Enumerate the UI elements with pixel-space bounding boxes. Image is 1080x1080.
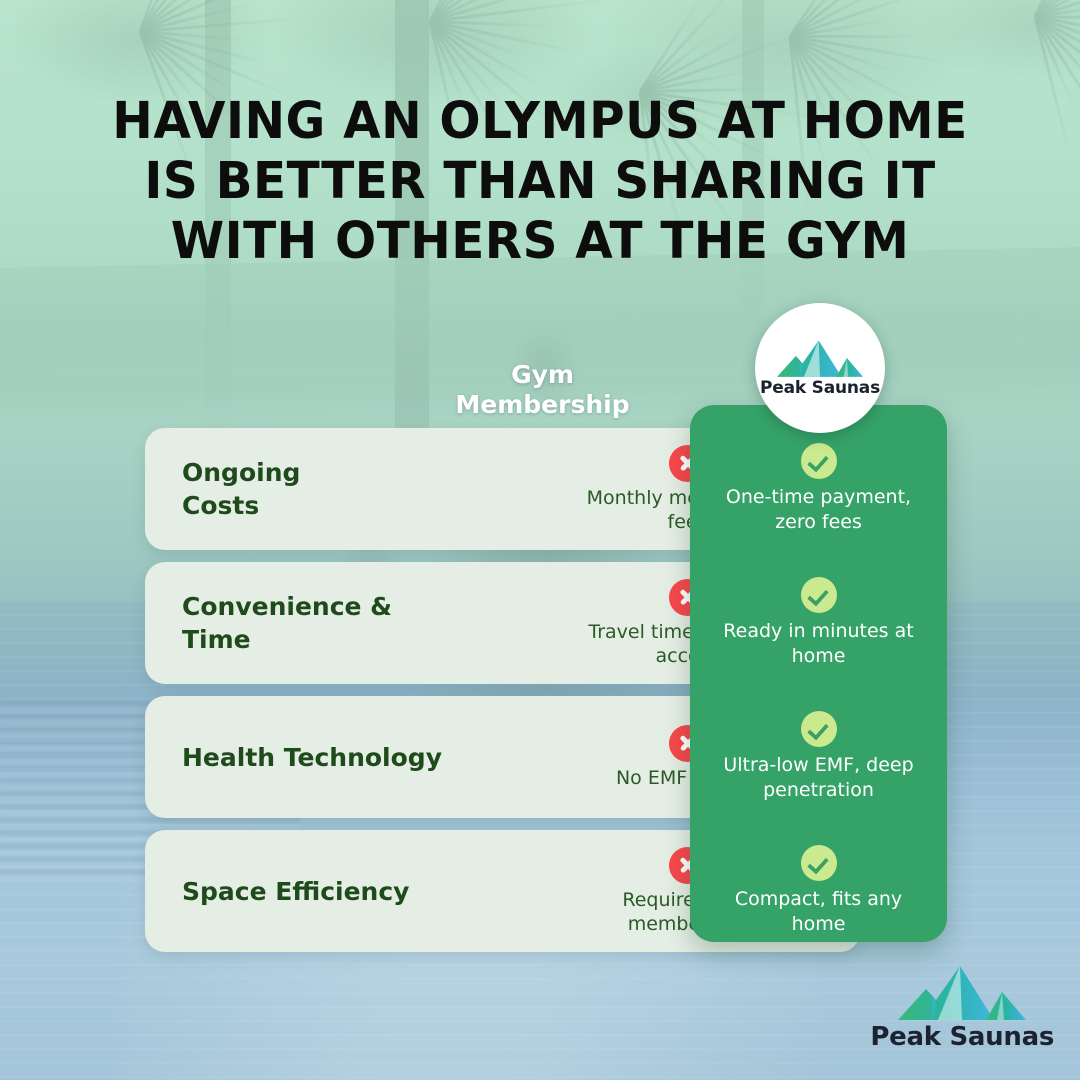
- page-title-line-1: HAVING AN OLYMPUS AT HOME: [27, 92, 1053, 152]
- row-feature-label-line-1: Health Technology: [182, 741, 462, 774]
- brand-badge-circle: Peak Saunas: [755, 303, 885, 433]
- row-peak-text: Compact, fits any home: [714, 887, 924, 937]
- row-peak-text: Ultra-low EMF, deep penetration: [714, 753, 924, 803]
- row-feature-label-line-1: Space Efficiency: [182, 875, 462, 908]
- column-header-gym-membership: Gym Membership: [400, 360, 685, 420]
- row-feature-label-line-1: Convenience &: [182, 590, 462, 623]
- check-circle-icon: [801, 845, 837, 881]
- row-peak-cell: Compact, fits any home: [690, 830, 947, 952]
- column-header-gym-line-2: Membership: [400, 390, 685, 420]
- row-feature-label-line-2: Time: [182, 623, 462, 656]
- row-peak-cell: Ready in minutes at home: [690, 562, 947, 684]
- brand-logo-footer: Peak Saunas: [870, 964, 1054, 1052]
- check-circle-icon: [801, 577, 837, 613]
- infographic-canvas: HAVING AN OLYMPUS AT HOME IS BETTER THAN…: [0, 0, 1080, 1080]
- column-header-gym-line-1: Gym: [400, 360, 685, 390]
- mountain-peaks-icon: [898, 964, 1026, 1020]
- row-peak-cell: Ultra-low EMF, deep penetration: [690, 696, 947, 818]
- brand-wordmark: Peak Saunas: [760, 378, 880, 398]
- highlight-column-peak-saunas: One-time payment, zero fees Ready in min…: [690, 405, 947, 942]
- page-title: HAVING AN OLYMPUS AT HOME IS BETTER THAN…: [27, 92, 1053, 272]
- check-circle-icon: [801, 711, 837, 747]
- row-peak-text: One-time payment, zero fees: [714, 485, 924, 535]
- row-feature-label: Space Efficiency: [182, 830, 462, 952]
- row-feature-label-line-2: Costs: [182, 489, 462, 522]
- page-title-line-3: WITH OTHERS AT THE GYM: [27, 212, 1053, 272]
- row-feature-label-line-1: Ongoing: [182, 456, 462, 489]
- row-peak-text: Ready in minutes at home: [714, 619, 924, 669]
- row-feature-label: Convenience & Time: [182, 562, 462, 684]
- row-peak-cell: One-time payment, zero fees: [690, 428, 947, 550]
- row-feature-label: Ongoing Costs: [182, 428, 462, 550]
- page-title-line-2: IS BETTER THAN SHARING IT: [27, 152, 1053, 212]
- check-circle-icon: [801, 443, 837, 479]
- row-feature-label: Health Technology: [182, 696, 462, 818]
- brand-wordmark: Peak Saunas: [870, 1022, 1054, 1052]
- mountain-peaks-icon: [777, 339, 863, 377]
